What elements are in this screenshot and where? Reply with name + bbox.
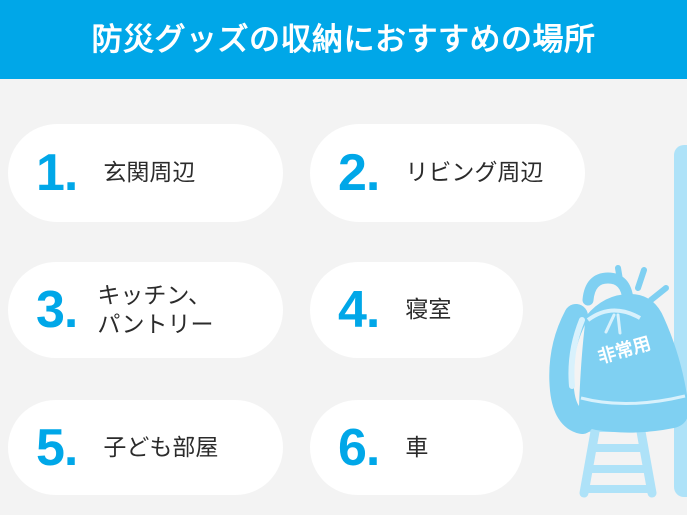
list-item-number: 1. <box>36 147 77 199</box>
list-item-label: キッチン、 パントリー <box>97 281 213 340</box>
step-stool-icon <box>584 426 652 493</box>
list-item-label-line: 寝室 <box>405 295 451 324</box>
list-item-4[interactable]: 4. 寝室 <box>310 262 523 358</box>
header-band: 防災グッズの収納におすすめの場所 <box>0 0 687 79</box>
list-item-label: リビング周辺 <box>405 158 543 187</box>
list-item-6[interactable]: 6. 車 <box>310 400 523 495</box>
list-item-label-line: リビング周辺 <box>405 158 543 187</box>
list-item-2[interactable]: 2. リビング周辺 <box>310 124 585 222</box>
list-item-number: 6. <box>338 422 379 474</box>
list-item-label: 車 <box>405 433 428 462</box>
infographic-page: 防災グッズの収納におすすめの場所 1. 玄関周辺 2. リビング周辺 3. キッ… <box>0 0 687 515</box>
list-item-label: 子ども部屋 <box>103 433 218 462</box>
list-item-3[interactable]: 3. キッチン、 パントリー <box>8 262 283 358</box>
list-item-label-line: 車 <box>405 433 428 462</box>
list-item-number: 5. <box>36 422 77 474</box>
list-item-number: 2. <box>338 147 379 199</box>
page-title: 防災グッズの収納におすすめの場所 <box>92 24 596 55</box>
list-item-label: 玄関周辺 <box>103 158 195 187</box>
list-item-5[interactable]: 5. 子ども部屋 <box>8 400 283 495</box>
list-item-label: 寝室 <box>405 295 451 324</box>
emergency-backpack-illustration: 非常用 <box>548 258 687 508</box>
list-item-1[interactable]: 1. 玄関周辺 <box>8 124 283 222</box>
list-item-label-line: 子ども部屋 <box>103 433 218 462</box>
list-item-label-line: キッチン、 <box>97 281 213 310</box>
list-item-label-line: 玄関周辺 <box>103 158 195 187</box>
list-item-number: 4. <box>338 284 379 336</box>
list-item-number: 3. <box>36 284 77 336</box>
list-item-label-line: パントリー <box>97 310 213 339</box>
